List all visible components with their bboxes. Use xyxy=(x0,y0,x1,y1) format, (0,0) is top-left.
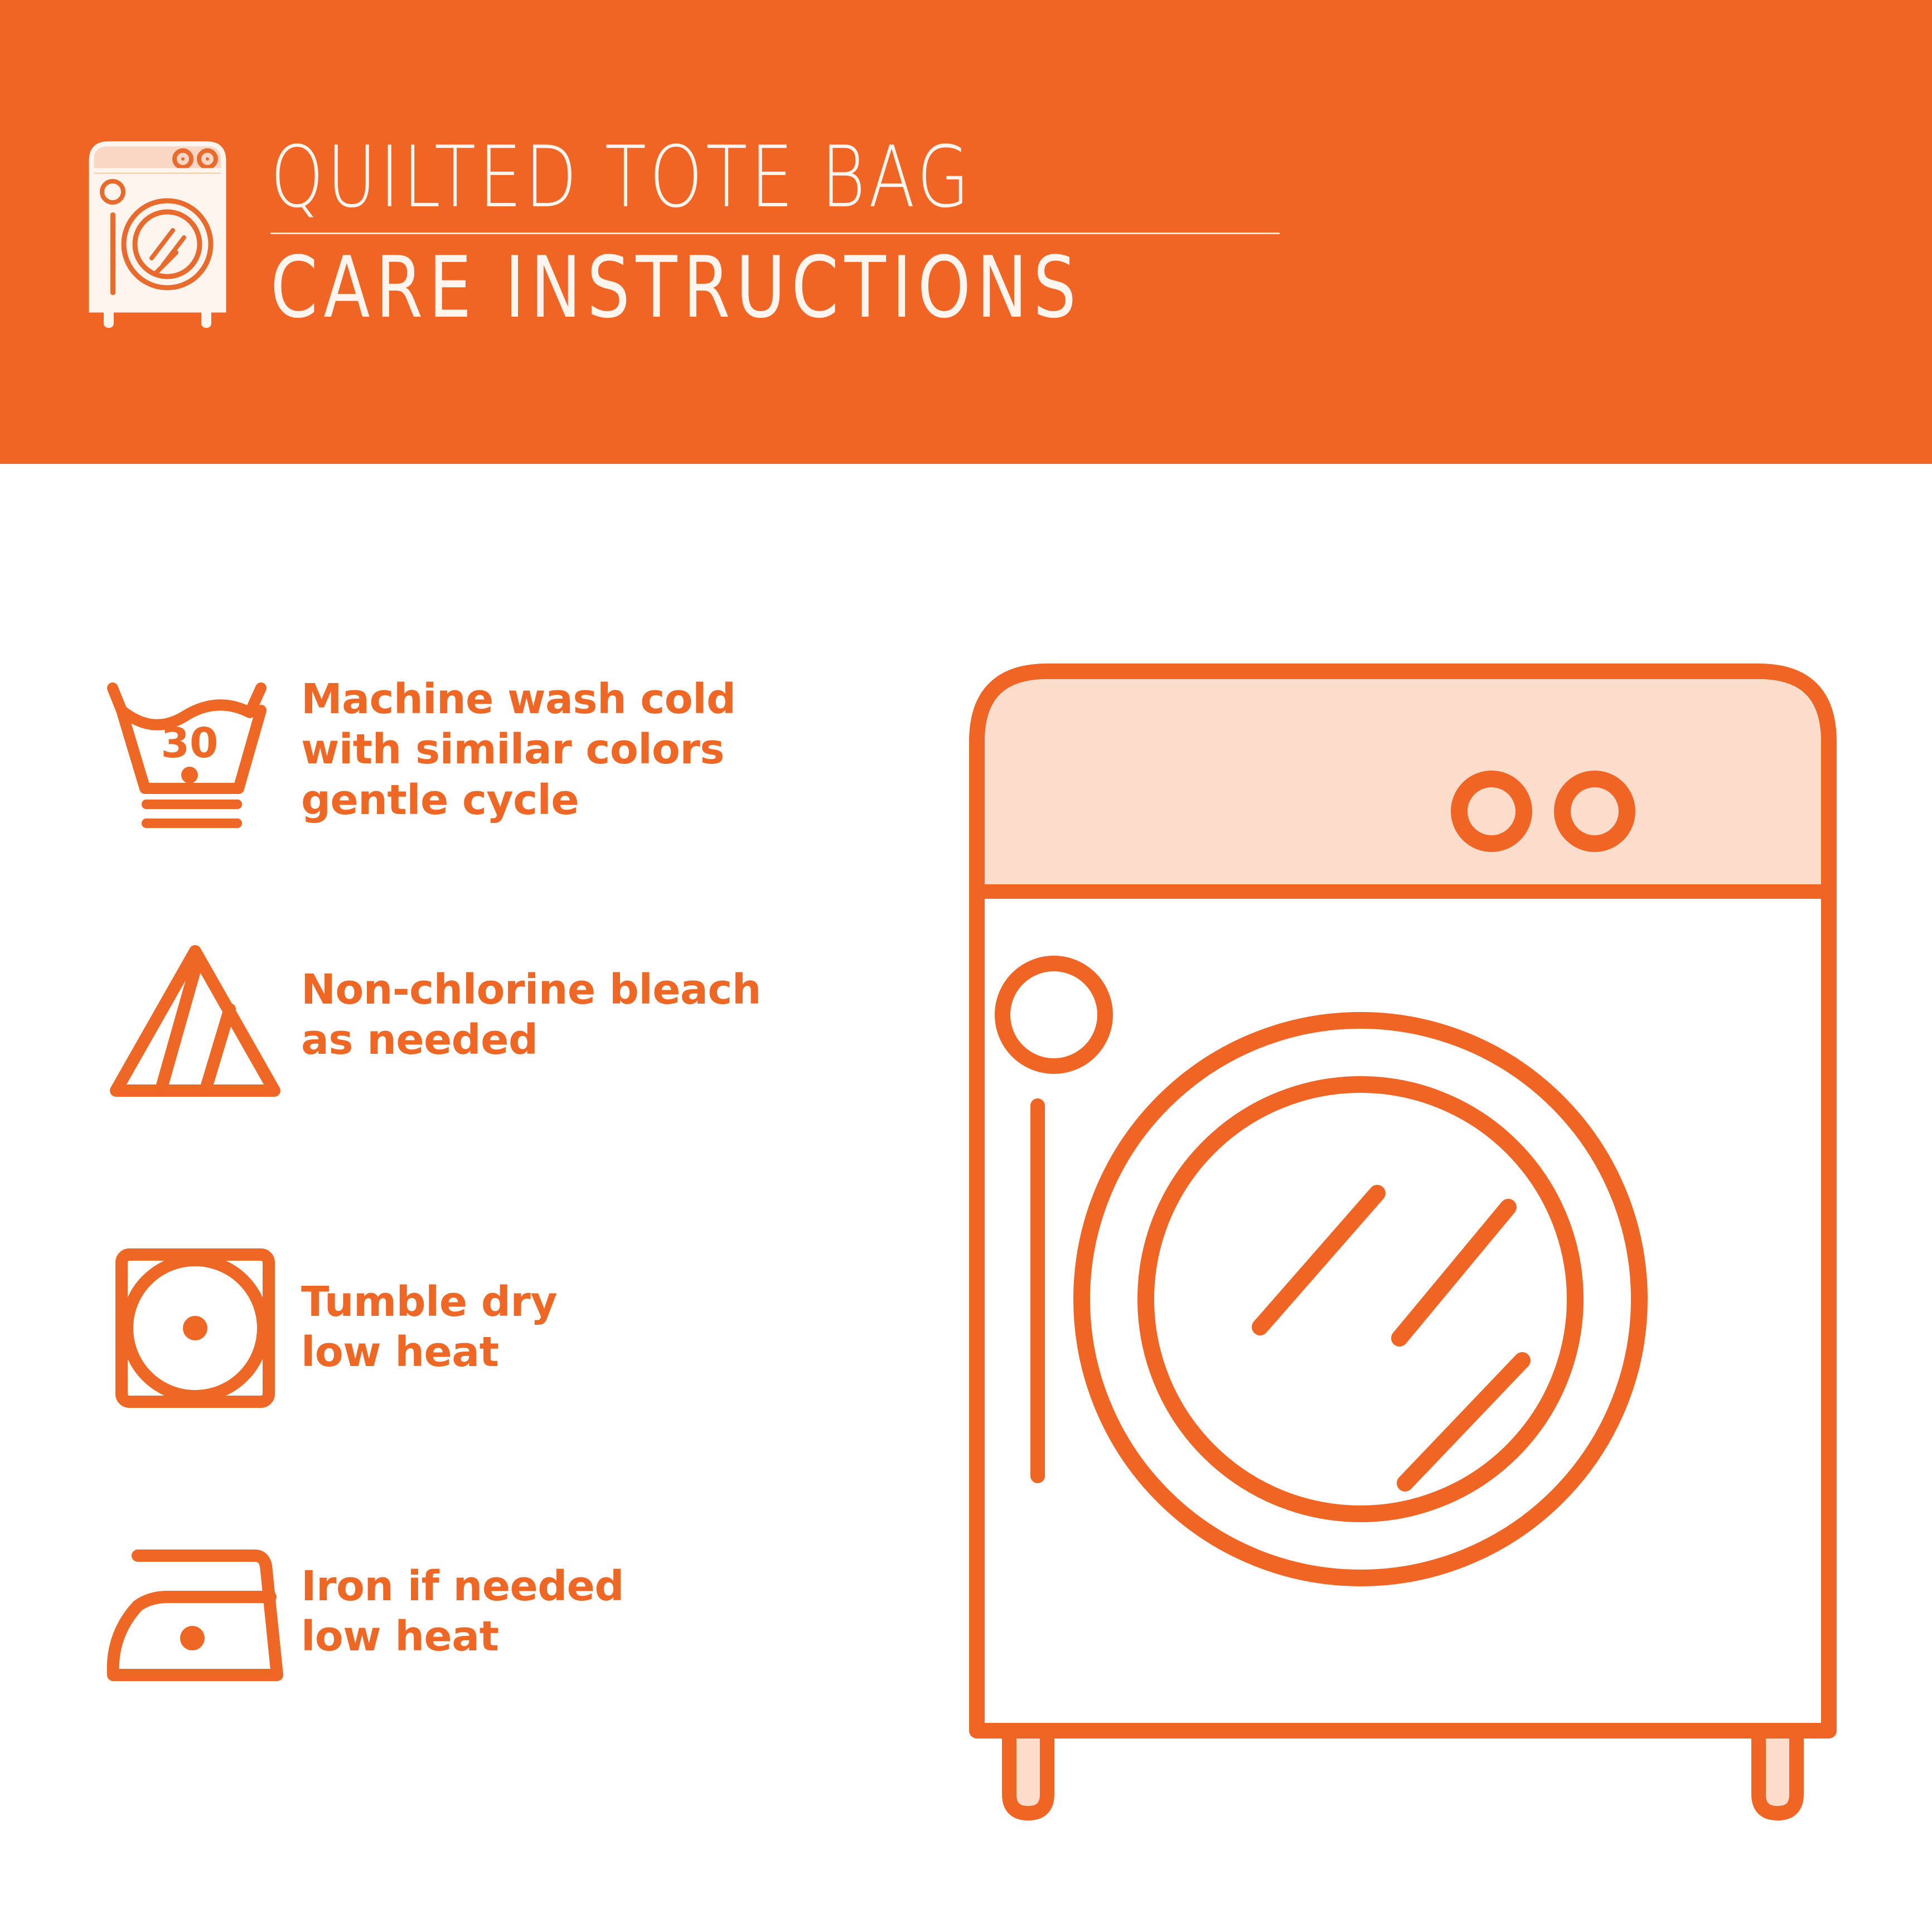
care-instruction-item: 30 Machine wash cold with similar colors… xyxy=(89,662,926,851)
care-instruction-label: Non-chlorine bleach as needed xyxy=(301,927,761,1066)
door-handle-bar xyxy=(1030,1098,1045,1483)
header-banner: QUILTED TOTE BAG CARE INSTRUCTIONS xyxy=(0,0,1932,464)
page-title: QUILTED TOTE BAG xyxy=(270,134,1082,220)
care-instructions-list: 30 Machine wash cold with similar colors… xyxy=(0,464,948,1932)
foot-right xyxy=(1759,1728,1797,1813)
non-chlorine-bleach-triangle-symbol xyxy=(89,927,301,1116)
care-instruction-label: Tumble dry low heat xyxy=(301,1233,557,1378)
washing-machine-icon xyxy=(84,138,231,328)
header-text-block: QUILTED TOTE BAG CARE INSTRUCTIONS xyxy=(270,128,1285,331)
page-subtitle: CARE INSTRUCTIONS xyxy=(270,244,1082,331)
care-instruction-item: Non-chlorine bleach as needed xyxy=(89,927,926,1116)
tumble-dry-low-heat-symbol xyxy=(89,1233,301,1423)
care-instruction-label: Machine wash cold with similar colors ge… xyxy=(301,662,735,825)
front-load-washing-machine-illustration xyxy=(948,613,1885,1829)
svg-text:30: 30 xyxy=(161,719,219,767)
care-instruction-label: Iron if needed low heat xyxy=(301,1518,624,1662)
foot-left xyxy=(1009,1728,1047,1813)
care-instruction-item: Tumble dry low heat xyxy=(89,1233,926,1423)
title-divider xyxy=(270,233,1280,234)
header-content: QUILTED TOTE BAG CARE INSTRUCTIONS xyxy=(84,128,1285,331)
iron-low-heat-symbol xyxy=(89,1518,301,1707)
care-instruction-item: Iron if needed low heat xyxy=(89,1518,926,1707)
wash-tub-30-gentle-symbol: 30 xyxy=(89,662,301,851)
